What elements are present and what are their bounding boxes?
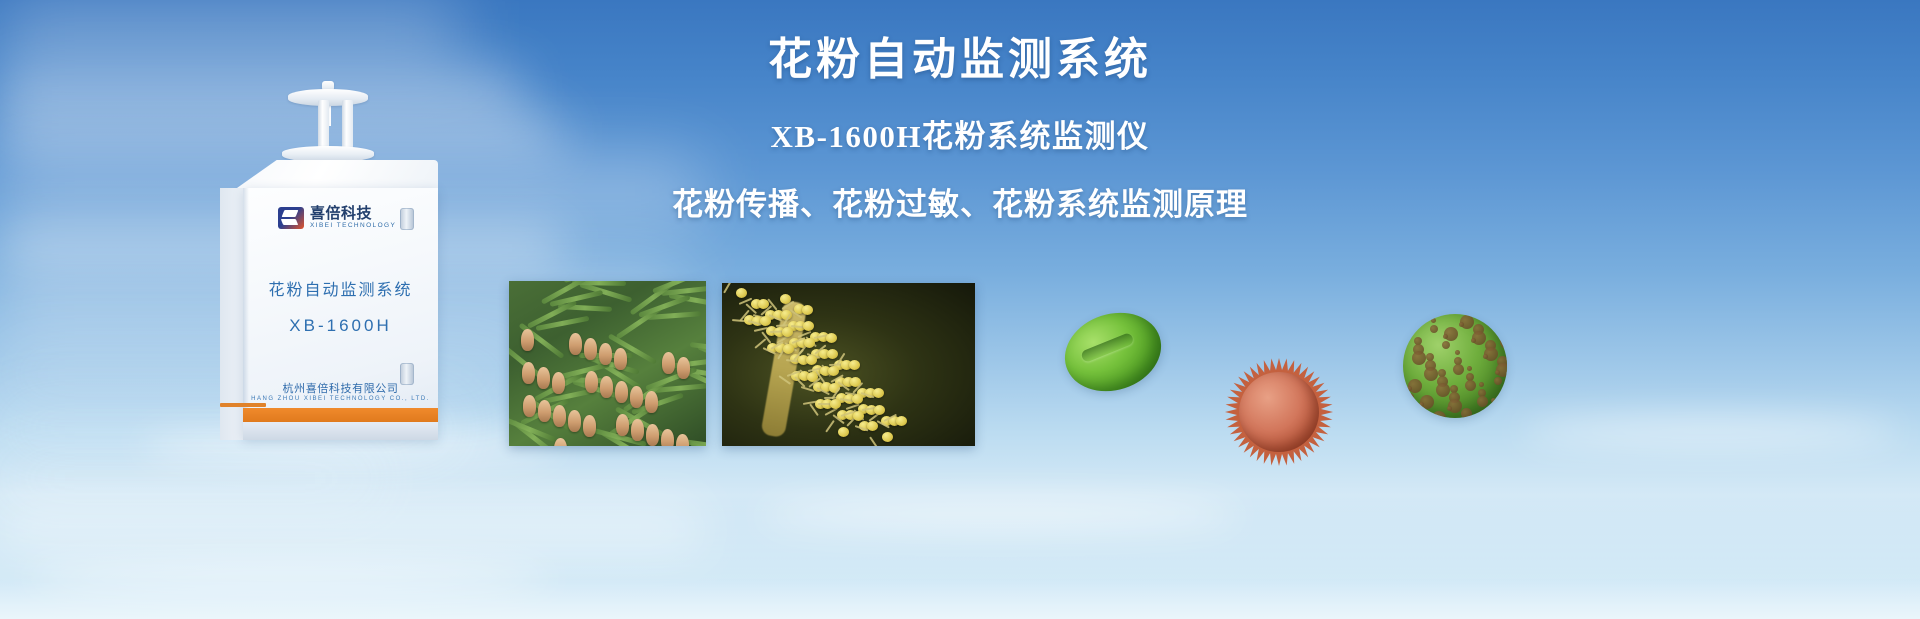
wart — [1453, 364, 1464, 375]
device-orange-base-strip — [243, 408, 438, 422]
brand-name-en: XIBEI TECHNOLOGY — [310, 223, 396, 230]
anther — [874, 405, 885, 415]
pollen-cone — [661, 429, 674, 446]
wart — [1455, 350, 1460, 355]
page-subtitle: XB-1600H花粉系统监测仪 — [560, 111, 1360, 156]
device-latch-bottom — [400, 363, 414, 385]
anther — [802, 305, 813, 315]
anther — [852, 394, 863, 404]
green-warty-pollen-grain — [1403, 314, 1507, 418]
pollen-monitor-device: 喜倍科技 XIBEI TECHNOLOGY 花粉自动监测系统 XB-1600H … — [196, 78, 496, 446]
wart — [1500, 335, 1507, 349]
wart — [1442, 341, 1450, 349]
horizon-haze — [0, 499, 1920, 619]
pollen-cone — [553, 405, 566, 427]
pollen-cone — [630, 386, 643, 408]
wart — [1479, 382, 1484, 387]
pollen-cone — [599, 343, 612, 365]
pollen-cone — [645, 391, 658, 413]
pollen-cone — [585, 371, 598, 393]
pollen-cone — [677, 357, 690, 379]
device-accent-tick — [220, 403, 266, 407]
wart — [1459, 322, 1464, 327]
wart — [1407, 386, 1412, 391]
anther — [806, 355, 817, 365]
wart — [1465, 380, 1476, 391]
anther — [783, 344, 794, 354]
pollen-cone — [615, 381, 628, 403]
yellow-catkin-photo — [722, 283, 975, 446]
pollen-cone — [614, 348, 627, 370]
pollen-cone — [569, 333, 582, 355]
wart — [1491, 398, 1496, 403]
page-tagline: 花粉传播、花粉过敏、花粉系统监测原理 — [560, 179, 1360, 224]
pollen-cone — [616, 414, 629, 436]
anther — [736, 288, 747, 298]
device-latch-top — [400, 208, 414, 230]
pollen-cone — [568, 410, 581, 432]
pollen-monitoring-banner: 喜倍科技 XIBEI TECHNOLOGY 花粉自动监测系统 XB-1600H … — [0, 0, 1920, 619]
pollen-cone — [538, 400, 551, 422]
device-base — [243, 422, 438, 440]
pollen-cone — [523, 395, 536, 417]
wart — [1418, 409, 1426, 417]
wart — [1436, 383, 1450, 397]
wart — [1412, 351, 1426, 365]
brand-name-cn: 喜倍科技 — [310, 206, 396, 221]
pollen-cone — [537, 367, 550, 389]
wart — [1443, 334, 1448, 339]
pollen-cone — [646, 424, 659, 446]
anther — [828, 366, 839, 376]
wart — [1495, 370, 1500, 375]
device-company-name-en: HANG ZHOU XIBEI TECHNOLOGY CO., LTD. — [196, 396, 438, 402]
wart — [1489, 412, 1500, 418]
xibei-logo-icon — [278, 207, 304, 229]
device-brand-logo: 喜倍科技 XIBEI TECHNOLOGY — [278, 206, 396, 230]
pollen-cone — [600, 376, 613, 398]
wart — [1431, 318, 1436, 323]
wart — [1430, 325, 1438, 333]
wart — [1419, 402, 1424, 407]
pollen-cone — [631, 419, 644, 441]
pollen-cone — [662, 352, 675, 374]
wart — [1447, 406, 1452, 411]
pollen-cone — [584, 338, 597, 360]
pollen-cone — [522, 362, 535, 384]
cypress-pollen-cones-photo — [509, 281, 706, 446]
wart — [1477, 396, 1488, 407]
wart — [1467, 366, 1472, 371]
wart — [1424, 367, 1438, 381]
anther — [782, 327, 793, 337]
pollen-cone — [583, 415, 596, 437]
anther — [838, 427, 849, 437]
pollen-cone — [552, 372, 565, 394]
pollen-cone — [521, 329, 534, 351]
banner-headings: 花粉自动监测系统 XB-1600H花粉系统监测仪 花粉传播、花粉过敏、花粉系统监… — [560, 34, 1360, 224]
red-spiky-pollen-grain — [1225, 358, 1333, 466]
device-product-name: 花粉自动监测系统 — [196, 276, 438, 300]
anther — [760, 316, 771, 326]
device-model-number: XB-1600H — [196, 316, 438, 336]
wart — [1432, 411, 1446, 418]
wart — [1406, 393, 1414, 401]
wart — [1483, 354, 1488, 359]
wart — [1403, 314, 1408, 319]
wart — [1494, 377, 1502, 385]
wart — [1461, 408, 1472, 418]
wart — [1471, 338, 1476, 343]
anther — [826, 333, 837, 343]
page-title: 花粉自动监测系统 — [560, 34, 1360, 87]
green-smooth-pollen-grain — [1055, 301, 1172, 404]
anther — [853, 411, 864, 421]
